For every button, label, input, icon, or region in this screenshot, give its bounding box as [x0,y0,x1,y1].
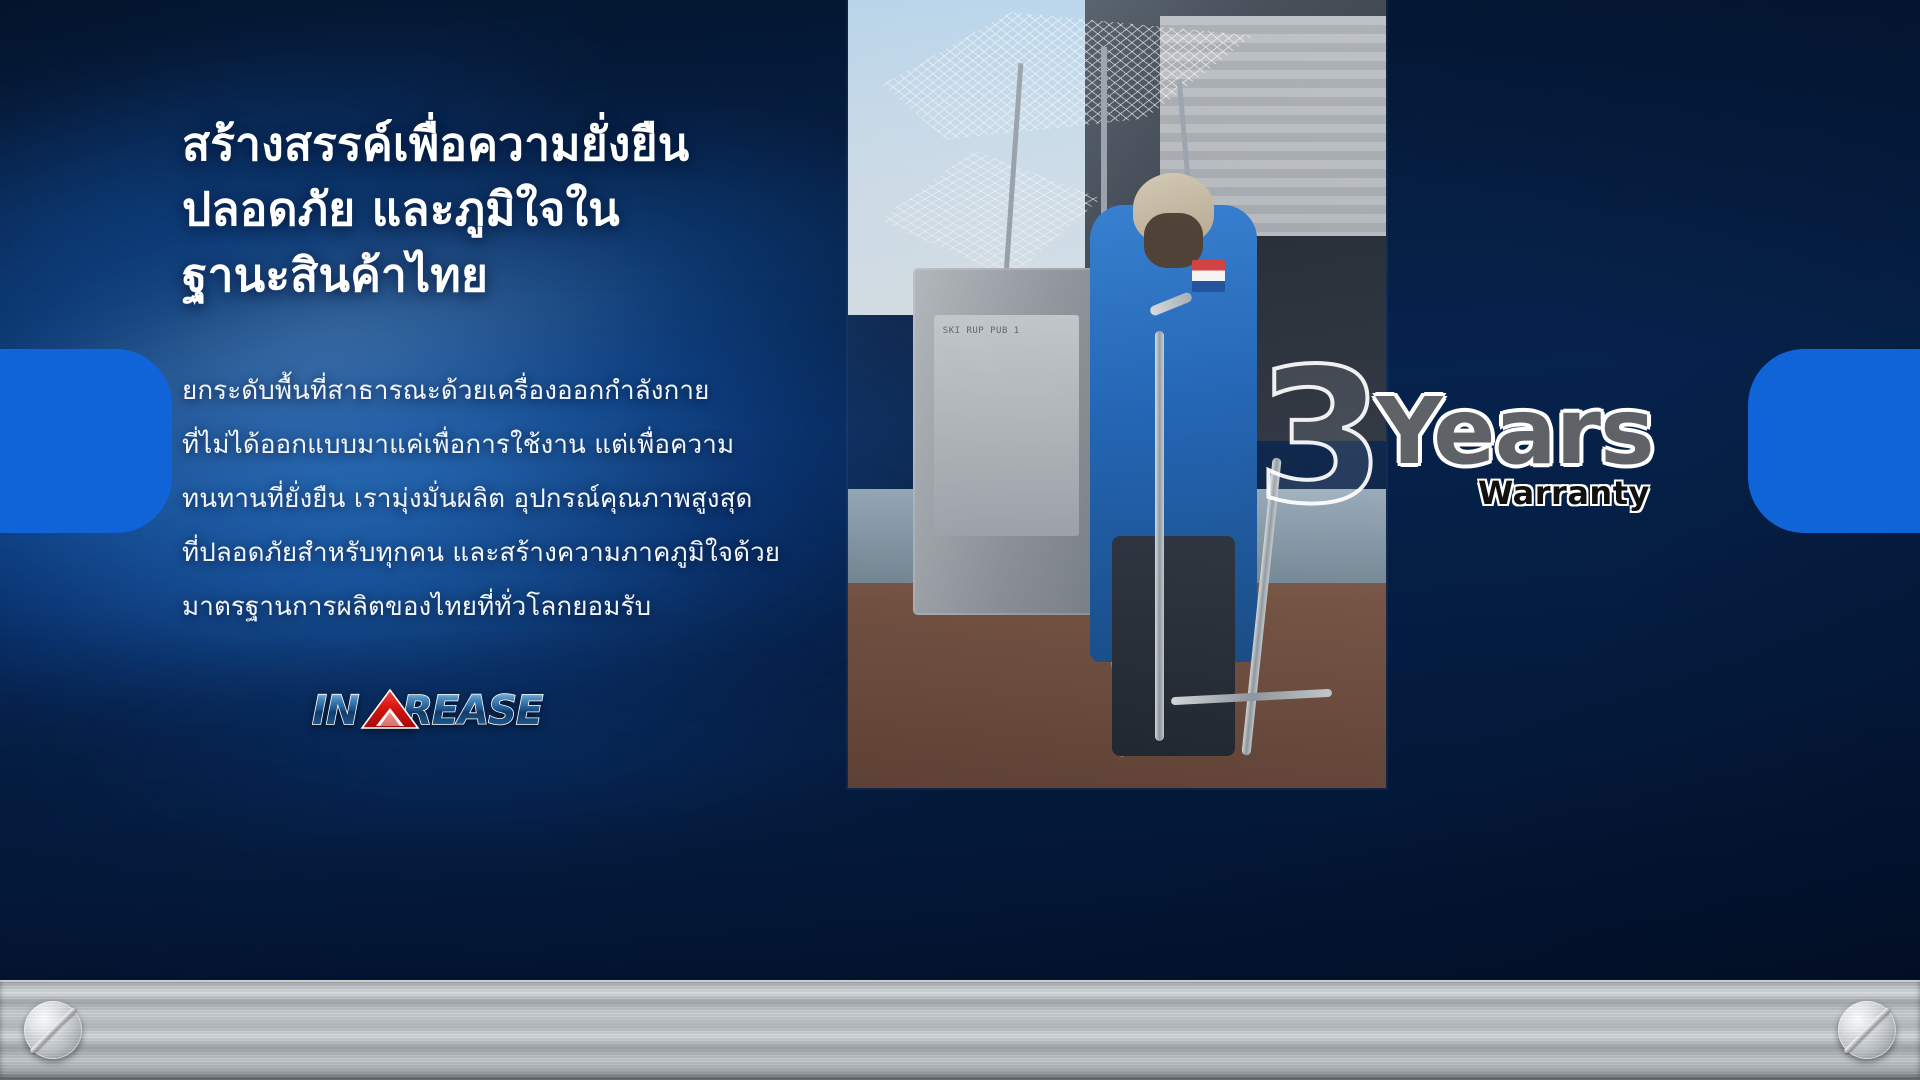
decor-pill-right [1748,349,1920,533]
slide-canvas: สร้างสรรค์เพื่อความยั่งยืน ปลอดภัย และภู… [0,0,1920,1080]
body-line-5: มาตรฐานการผลิตของไทยที่ทั่วโลกยอมรับ [182,580,882,634]
body-line-1: ยกระดับพื้นที่สาธารณะด้วยเครื่องออกกำลัง… [182,364,882,418]
body-line-2: ที่ไม่ได้ออกแบบมาแค่เพื่อการใช้งาน แต่เพ… [182,418,882,472]
page-title: สร้างสรรค์เพื่อความยั่งยืน ปลอดภัย และภู… [182,112,882,308]
screw-head-right-icon [1838,1001,1896,1059]
metal-bottom-bar [0,980,1920,1080]
photo-light-overlay [848,0,1386,788]
headline-line-3: ฐานะสินค้าไทย [182,243,882,308]
screw-head-left-icon [24,1001,82,1059]
product-photo: SKI RUP PUB 1 [848,0,1386,788]
svg-text:REASE: REASE [402,688,543,734]
headline-line-2: ปลอดภัย และภูมิใจใน [182,177,882,242]
body-line-4: ที่ปลอดภัยสำหรับทุกคน และสร้างความภาคภูม… [182,526,882,580]
svg-text:IN: IN [312,688,359,734]
headline-line-1: สร้างสรรค์เพื่อความยั่งยืน [182,112,882,177]
copy-block: สร้างสรรค์เพื่อความยั่งยืน ปลอดภัย และภู… [182,112,882,634]
decor-pill-left [0,349,172,533]
body-paragraph: ยกระดับพื้นที่สาธารณะด้วยเครื่องออกกำลัง… [182,364,882,634]
increase-logo: IN REASE [310,686,562,734]
body-line-3: ทนทานที่ยั่งยืน เรามุ่งมั่นผลิต อุปกรณ์ค… [182,472,882,526]
